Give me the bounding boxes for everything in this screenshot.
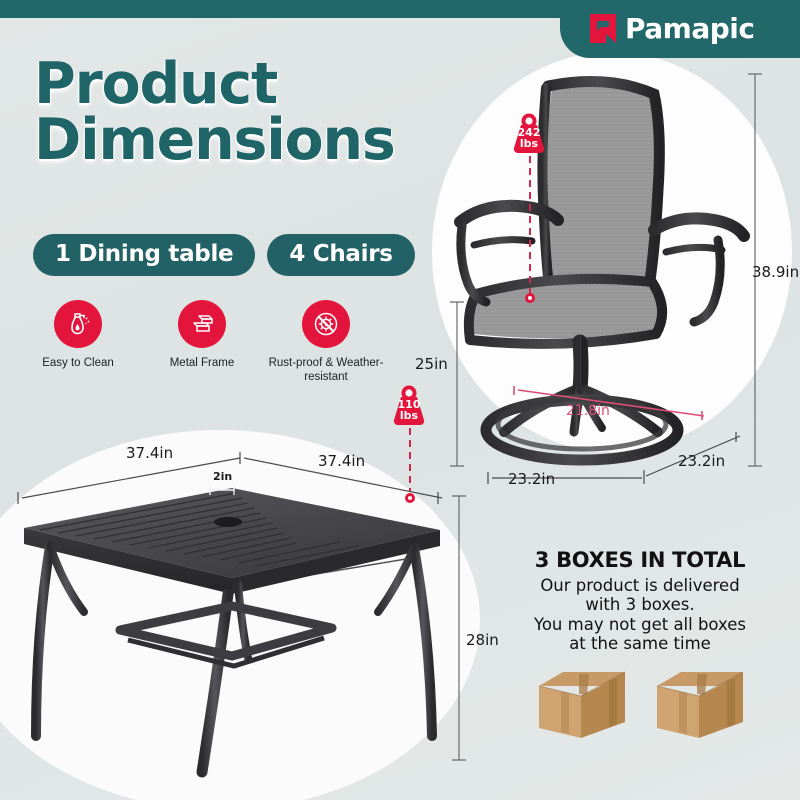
pamapic-logo-mark-icon <box>588 12 618 45</box>
shipping-line-3: You may not get all boxes <box>490 615 790 634</box>
chair-height-label: 38.9in <box>752 263 799 281</box>
shipping-line-4: at the same time <box>490 634 790 653</box>
shipping-box-images <box>490 664 790 742</box>
table-height-label: 28in <box>466 631 499 649</box>
shipping-info: 3 BOXES IN TOTAL Our product is delivere… <box>490 548 790 742</box>
table-width-label: 37.4in <box>126 444 173 462</box>
table-product-image <box>10 460 460 780</box>
brand-name: Pamapic <box>625 12 754 45</box>
feature-label-easy-to-clean: Easy to Clean <box>16 356 140 370</box>
cardboard-box-icon <box>651 664 747 742</box>
feature-metal-frame: Metal Frame <box>140 300 264 385</box>
rust-proof-icon <box>302 300 350 348</box>
umbrella-hole-dimension-line <box>206 484 238 496</box>
infographic-canvas: Pamapic Product Dimensions 1 Dining tabl… <box>0 0 800 800</box>
table-depth-label: 37.4in <box>318 452 365 470</box>
chair-seat-height-label: 25in <box>415 355 448 373</box>
feature-label-rust-proof: Rust-proof & Weather-resistant <box>264 356 388 385</box>
contents-pill-row: 1 Dining table 4 Chairs <box>33 234 415 276</box>
cardboard-box-icon <box>533 664 629 742</box>
weight-icon <box>386 384 432 430</box>
shipping-title: 3 BOXES IN TOTAL <box>490 548 790 572</box>
feature-label-metal-frame: Metal Frame <box>140 356 264 370</box>
chair-base-diameter-label: 21.8in <box>566 403 610 419</box>
page-title: Product Dimensions <box>34 56 395 169</box>
chair-width-label: 23.2in <box>508 470 555 488</box>
chair-depth-label: 23.2in <box>678 452 725 470</box>
chair-weight-leader-line <box>524 156 536 304</box>
metal-sheets-icon <box>178 300 226 348</box>
feature-easy-to-clean: Easy to Clean <box>16 300 140 385</box>
umbrella-hole-label: 2in <box>213 470 232 483</box>
feature-rust-proof: Rust-proof & Weather-resistant <box>264 300 388 385</box>
pill-dining-table: 1 Dining table <box>33 234 255 276</box>
shipping-line-2: with 3 boxes. <box>490 595 790 614</box>
feature-list: Easy to Clean Metal Frame <box>16 300 388 385</box>
pill-chairs: 4 Chairs <box>267 234 414 276</box>
spray-bottle-icon <box>54 300 102 348</box>
table-weight-badge: 110 lbs <box>386 384 432 430</box>
chair-base-diameter-line <box>512 386 712 422</box>
chair-seat-height-dimension-line <box>448 298 466 470</box>
page-title-line-1: Product <box>34 56 395 112</box>
chair-weight-badge: 242 lbs <box>506 112 552 158</box>
page-title-line-2: Dimensions <box>34 112 395 168</box>
weight-icon <box>506 112 552 158</box>
shipping-line-1: Our product is delivered <box>490 576 790 595</box>
table-height-dimension-line <box>450 492 468 764</box>
brand-logo: Pamapic <box>588 12 754 45</box>
